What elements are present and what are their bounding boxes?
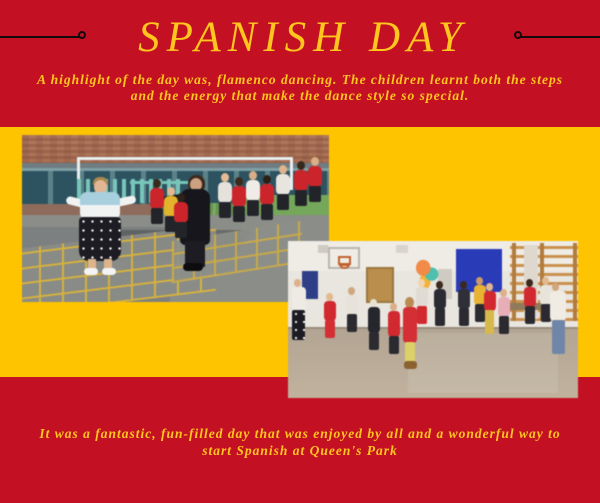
photo-indoor-hall-dancing [288,241,578,398]
header-subtitle: A highlight of the day was, flamenco dan… [30,72,570,104]
poster-root: SPANISH DAY A highlight of the day was, … [0,0,600,503]
header-banner: SPANISH DAY A highlight of the day was, … [0,0,600,127]
photo-outdoor-playground-dancing [22,135,329,302]
bottom-caption: It was a fantastic, fun-filled day that … [35,425,565,459]
page-title: SPANISH DAY [0,12,600,64]
